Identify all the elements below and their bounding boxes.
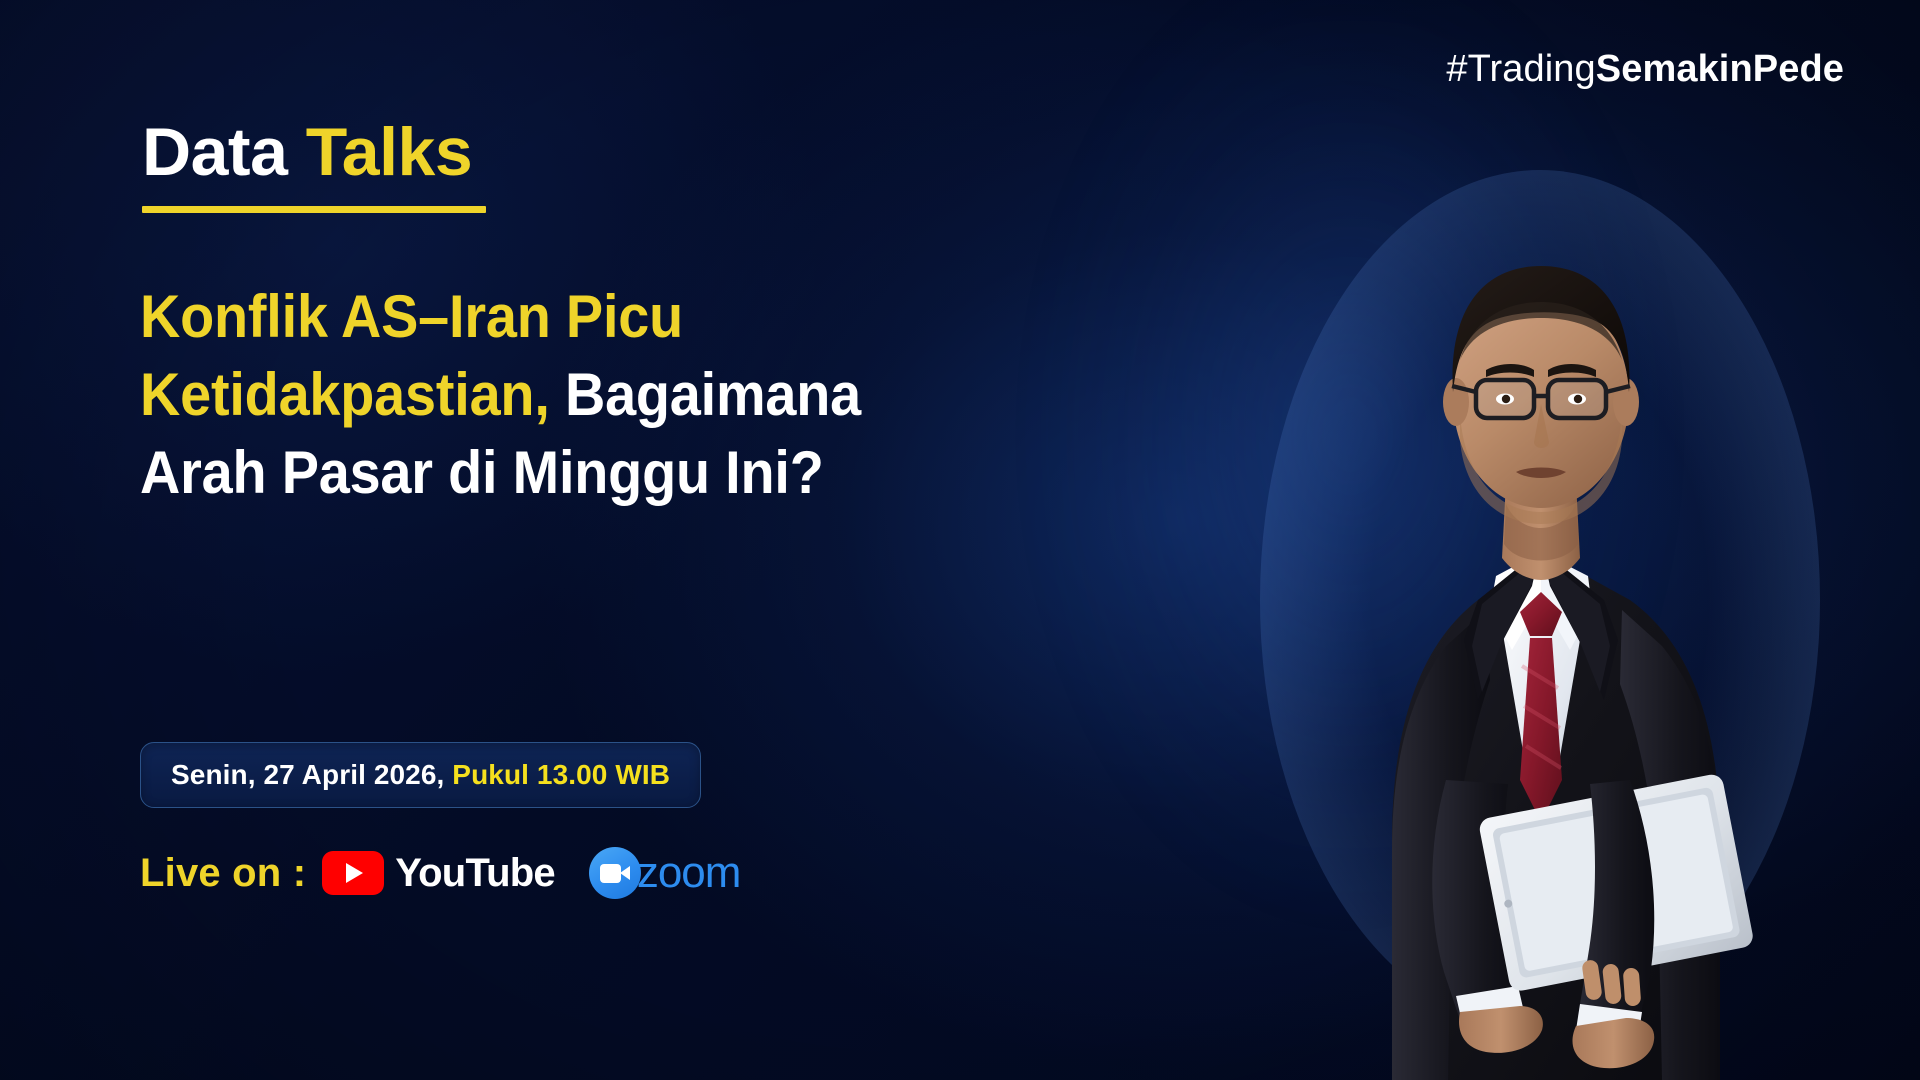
headline-line-3: Arah Pasar di Minggu Ini? (140, 434, 1051, 512)
headline-line-2-white: Bagaimana (550, 361, 861, 428)
program-title-word-1: Data (142, 114, 287, 190)
headline-line-1: Konflik AS–Iran Picu (140, 278, 1051, 356)
datetime-spacer (444, 759, 452, 791)
event-datetime-badge: Senin, 27 April 2026, Pukul 13.00 WIB (140, 742, 701, 808)
event-date-text: Senin, 27 April 2026, (171, 759, 444, 791)
live-on-label: Live on : (140, 851, 306, 896)
live-platforms-row: Live on : YouTube zoom (140, 842, 740, 904)
headline-line-2: Ketidakpastian, Bagaimana (140, 356, 1051, 434)
headline-line-3-white: Arah Pasar di Minggu Ini? (140, 439, 824, 506)
event-headline: Konflik AS–Iran Picu Ketidakpastian, Bag… (140, 278, 1051, 512)
hashtag-bold-part: SemakinPede (1596, 48, 1844, 90)
zoom-camera-icon (589, 847, 641, 899)
zoom-wordmark: zoom (637, 851, 741, 895)
headline-line-1-yellow: Konflik AS–Iran Picu (140, 283, 683, 350)
headline-line-2-yellow: Ketidakpastian, (140, 361, 550, 428)
program-brand: Data Talks (142, 118, 486, 213)
promo-banner: #TradingSemakinPede Data Talks Konflik A… (0, 0, 1920, 1080)
youtube-wordmark: YouTube (395, 853, 555, 893)
youtube-play-icon (322, 851, 384, 895)
zoom-logo[interactable]: zoom (589, 847, 741, 899)
campaign-hashtag: #TradingSemakinPede (1446, 48, 1844, 91)
program-title: Data Talks (142, 118, 486, 186)
program-title-word-2: Talks (306, 114, 472, 190)
hashtag-light-part: #Trading (1446, 48, 1595, 90)
event-time-text: Pukul 13.00 WIB (452, 759, 670, 791)
program-title-underline (142, 206, 486, 213)
youtube-logo[interactable]: YouTube (322, 851, 555, 895)
